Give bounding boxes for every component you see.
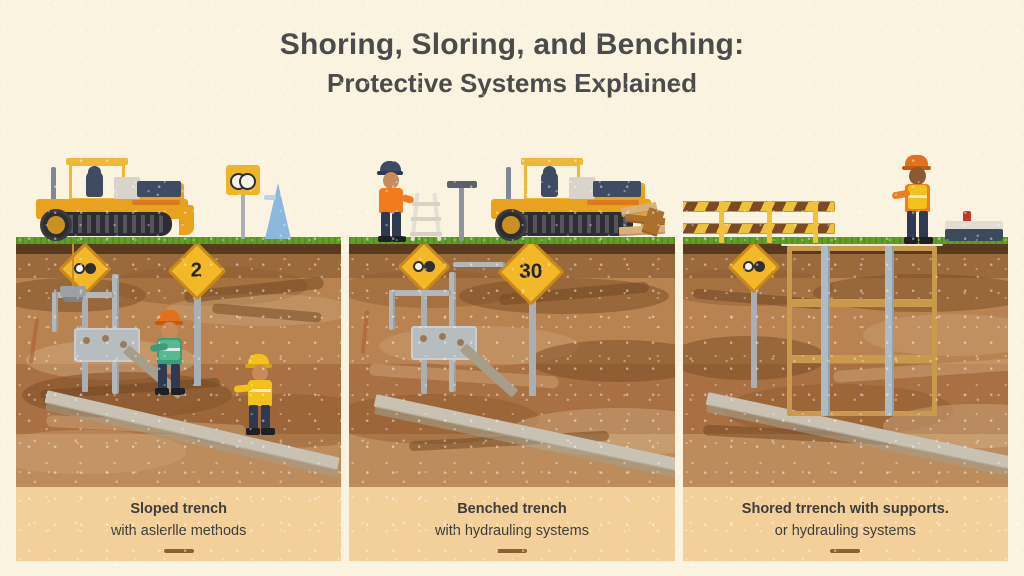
hoist-cable	[72, 244, 74, 286]
survey-pole-head	[447, 181, 477, 188]
worker-boot	[919, 237, 933, 244]
worker-boot	[392, 236, 406, 242]
caption-divider	[497, 549, 527, 553]
caption-shored-trench: Shored trrench with supports. or hydraul…	[683, 487, 1008, 561]
caption-row: Sloped trench with aslerlle methods Benc…	[16, 487, 1008, 561]
dozer-exhaust-stack	[51, 167, 56, 201]
dozer-radiator	[593, 181, 641, 197]
caption-sloped-title: Sloped trench	[130, 499, 227, 520]
worker-hivis-orange	[895, 155, 939, 243]
soil-red-vein	[361, 310, 370, 354]
double-circle-icon	[230, 173, 256, 187]
panel-benched-trench[interactable]: 30	[349, 145, 674, 490]
ladder-step	[410, 232, 442, 236]
trench-strut-vertical-left	[52, 292, 58, 332]
dozer-engine-cover	[569, 177, 595, 199]
worker-boot	[171, 388, 185, 395]
worker-boot	[261, 428, 275, 435]
soil-cross-section: 2	[16, 244, 341, 490]
shoring-hydraulic-strut	[821, 246, 830, 416]
dozer-body-stripe	[132, 200, 180, 205]
trench-sign-2-label: 2	[191, 260, 202, 283]
surface-road-sign[interactable]	[226, 165, 260, 195]
barricade-leg	[719, 201, 724, 243]
tool-case-body	[945, 229, 1003, 241]
double-circle-icon	[74, 263, 96, 275]
traffic-cone-icon	[265, 183, 291, 239]
shoring-frame	[787, 358, 937, 416]
excavator-bucket	[60, 286, 86, 298]
barricade-leg	[767, 201, 772, 243]
frame-edge-bottom	[0, 561, 1024, 576]
worker-leg	[919, 211, 928, 239]
caption-benched-title: Benched trench	[457, 499, 567, 520]
poster-title-block: Shoring, Sloring, and Benching: Protecti…	[0, 26, 1024, 103]
worker-leg	[381, 212, 390, 238]
bulldozer	[24, 157, 194, 239]
striped-barricade	[683, 201, 835, 243]
soil-cross-section: 30	[349, 244, 674, 490]
worker-orange-shirt	[371, 161, 411, 241]
caption-sloped-trench: Sloped trench with aslerlle methods	[16, 487, 341, 561]
dozer-operator-head	[88, 166, 101, 178]
caption-shored-title: Shored trrench with supports.	[742, 499, 949, 520]
worker-head	[383, 172, 399, 189]
panel-shored-trench[interactable]	[683, 145, 1008, 490]
caption-benched-trench: Benched trench with hydrauling systems	[349, 487, 674, 561]
worker-torso	[248, 380, 272, 406]
worker-head	[252, 365, 268, 381]
worker-boot	[378, 236, 392, 242]
panel-row: 2	[16, 145, 1008, 490]
dozer-drive-wheel	[40, 209, 72, 241]
shoring-box	[787, 244, 937, 432]
infographic-poster: Shoring, Sloring, and Benching: Protecti…	[0, 0, 1024, 576]
double-circle-icon	[413, 261, 435, 273]
barricade-leg	[813, 201, 818, 243]
worker-leg	[392, 212, 401, 238]
step-ladder	[409, 193, 443, 241]
trench-strut-vertical-left	[389, 290, 395, 330]
shoring-frame	[787, 302, 937, 360]
soil-cross-section	[683, 244, 1008, 490]
worker-green-vest	[146, 310, 192, 396]
traffic-cone-band	[264, 195, 276, 200]
trench-sign-30-label: 30	[520, 260, 543, 284]
trench-strut-horizontal	[389, 290, 451, 296]
poster-title-secondary: Protective Systems Explained	[0, 64, 1024, 103]
poster-title-primary: Shoring, Sloring, and Benching:	[0, 26, 1024, 64]
worker-head	[161, 322, 178, 339]
dozer-exhaust-stack	[506, 167, 511, 201]
worker-boot	[246, 428, 260, 435]
trench-strut-upper	[453, 262, 505, 267]
worker-leg	[907, 211, 916, 239]
caption-benched-subtitle: with hydrauling systems	[435, 521, 589, 542]
shoring-hydraulic-strut	[885, 246, 894, 416]
worker-head	[909, 167, 926, 185]
vest-reflective-band	[908, 195, 927, 198]
worker-boot	[904, 237, 918, 244]
worker-leg	[261, 405, 270, 430]
worker-leg	[249, 405, 258, 430]
caption-divider	[164, 549, 194, 553]
frame-edge-right	[1008, 0, 1024, 576]
frame-edge-left	[0, 0, 16, 576]
caption-divider	[830, 549, 860, 553]
worker-yellow-vest	[238, 354, 282, 436]
dozer-drive-wheel	[495, 209, 527, 241]
vest-reflective-band	[249, 389, 271, 392]
panel-sloped-trench[interactable]: 2	[16, 145, 341, 490]
barricade-rail-top	[683, 201, 835, 212]
barricade-rail-bottom	[683, 223, 835, 234]
caption-shored-subtitle: or hydrauling systems	[775, 521, 916, 542]
worker-leg	[171, 364, 180, 390]
tool-case	[945, 211, 1003, 241]
survey-pole	[459, 185, 464, 241]
plank-pile	[619, 203, 674, 241]
worker-leg	[158, 364, 167, 390]
dozer-rear-blade	[179, 205, 194, 235]
shoring-frame	[787, 246, 937, 304]
worker-boot	[155, 388, 169, 395]
caption-sloped-subtitle: with aslerlle methods	[111, 521, 246, 542]
ladder-step	[411, 217, 441, 221]
dozer-radiator	[137, 181, 181, 197]
double-circle-icon	[743, 261, 765, 273]
ladder-step	[412, 202, 440, 206]
